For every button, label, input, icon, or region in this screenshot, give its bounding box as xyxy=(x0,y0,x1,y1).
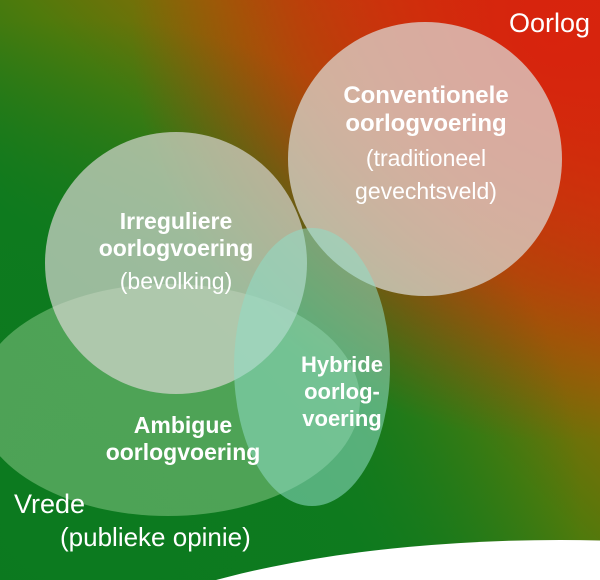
region-hybride[interactable] xyxy=(234,228,390,506)
diagram-graphics xyxy=(0,0,600,580)
diagram-canvas: Oorlog Vrede (publieke opinie) Conventio… xyxy=(0,0,600,580)
